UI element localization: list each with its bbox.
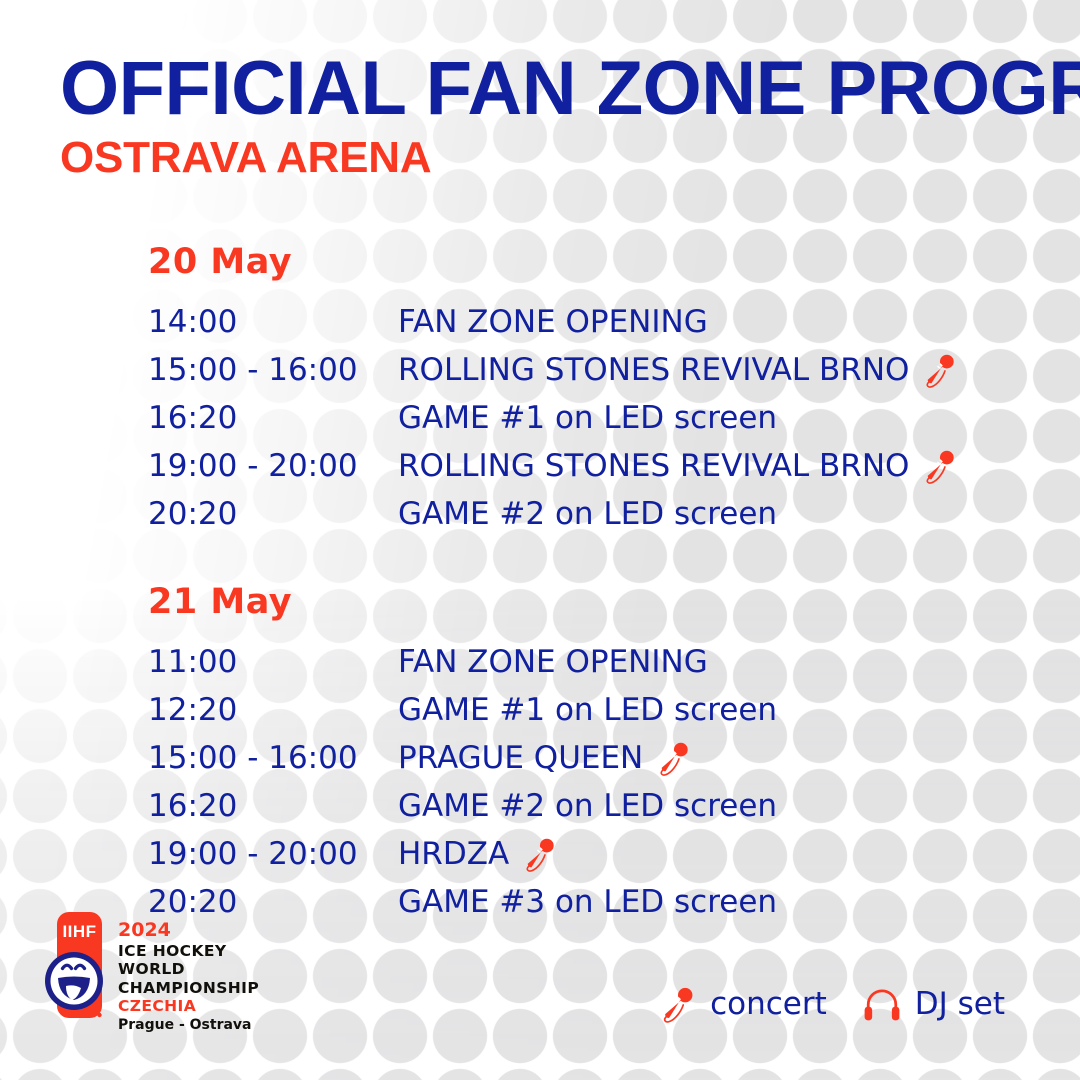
row-event: ROLLING STONES REVIVAL BRNO [398,446,959,486]
row-event: FAN ZONE OPENING [398,304,708,340]
row-event: GAME #1 on LED screen [398,692,777,728]
page-subtitle-venue: OSTRAVA ARENA [60,136,1080,180]
row-event-label: GAME #2 on LED screen [398,496,777,532]
row-event: PRAGUE QUEEN [398,738,693,778]
row-event-label: GAME #1 on LED screen [398,400,777,436]
schedule-row: 16:20 GAME #1 on LED screen [148,394,1048,442]
microphone-icon [919,350,959,390]
schedule-row: 15:00 - 16:00 ROLLING STONES REVIVAL BRN… [148,346,1048,394]
schedule-row: 15:00 - 16:00 PRAGUE QUEEN [148,734,1048,782]
row-time: 19:00 - 20:00 [148,448,398,484]
logo-year: 2024 [118,920,259,942]
poster-header: OFFICIAL FAN ZONE PROGRAM OSTRAVA ARENA [60,52,1080,180]
legend: concert DJ set [656,983,1005,1025]
day-heading: 21 May [148,582,1048,622]
row-time: 20:20 [148,496,398,532]
row-event-label: GAME #1 on LED screen [398,692,777,728]
iihf-logo-text: 2024 ICE HOCKEY WORLD CHAMPIONSHIP CZECH… [118,910,259,1034]
fan-zone-program-poster: OFFICIAL FAN ZONE PROGRAM OSTRAVA ARENA … [0,0,1080,1080]
row-event-label: PRAGUE QUEEN [398,740,643,776]
row-event-label: ROLLING STONES REVIVAL BRNO [398,352,909,388]
logo-line-championship: CHAMPIONSHIP [118,979,259,997]
headphones-icon [861,983,903,1025]
row-event: FAN ZONE OPENING [398,644,708,680]
microphone-icon [919,446,959,486]
legend-label-dj-set: DJ set [915,986,1005,1022]
microphone-icon [653,738,693,778]
row-event: ROLLING STONES REVIVAL BRNO [398,350,959,390]
svg-text:IIHF: IIHF [62,922,96,941]
row-event: HRDZA [398,834,559,874]
row-time: 19:00 - 20:00 [148,836,398,872]
row-event-label: GAME #3 on LED screen [398,884,777,920]
row-time: 11:00 [148,644,398,680]
schedule-row: 12:20 GAME #1 on LED screen [148,686,1048,734]
row-event-label: HRDZA [398,836,509,872]
row-event-label: FAN ZONE OPENING [398,304,708,340]
schedule-row: 19:00 - 20:00 ROLLING STONES REVIVAL BRN… [148,442,1048,490]
schedule-row: 11:00 FAN ZONE OPENING [148,638,1048,686]
schedule-list: 20 May 14:00 FAN ZONE OPENING 15:00 - 16… [148,242,1048,926]
schedule-row: 20:20 GAME #3 on LED screen [148,878,1048,926]
row-event: GAME #2 on LED screen [398,496,777,532]
row-event: GAME #1 on LED screen [398,400,777,436]
logo-country: CZECHIA [118,997,259,1016]
schedule-row: 16:20 GAME #2 on LED screen [148,782,1048,830]
iihf-championship-logo: IIHF 2024 ICE HOCKEY WORLD CHAMPIONSHIP … [44,910,259,1034]
row-time: 16:20 [148,400,398,436]
row-time: 12:20 [148,692,398,728]
page-title: OFFICIAL FAN ZONE PROGRAM [60,52,1080,126]
legend-item-dj-set: DJ set [861,983,1005,1025]
day-heading: 20 May [148,242,1048,282]
row-event-label: ROLLING STONES REVIVAL BRNO [398,448,909,484]
iihf-logo-mark-icon: IIHF [44,910,106,1022]
legend-item-concert: concert [656,983,827,1025]
day-block-20-may: 20 May 14:00 FAN ZONE OPENING 15:00 - 16… [148,242,1048,538]
row-time: 16:20 [148,788,398,824]
logo-line-ice-hockey: ICE HOCKEY [118,942,259,960]
schedule-row: 14:00 FAN ZONE OPENING [148,298,1048,346]
microphone-icon [519,834,559,874]
logo-cities: Prague - Ostrava [118,1017,259,1035]
microphone-icon [656,983,698,1025]
row-event: GAME #2 on LED screen [398,788,777,824]
logo-line-world: WORLD [118,960,259,978]
day-separator [148,538,1048,582]
schedule-row: 20:20 GAME #2 on LED screen [148,490,1048,538]
row-event-label: GAME #2 on LED screen [398,788,777,824]
schedule-row: 19:00 - 20:00 HRDZA [148,830,1048,878]
day-block-21-may: 21 May 11:00 FAN ZONE OPENING 12:20 GAME… [148,582,1048,926]
row-time: 15:00 - 16:00 [148,740,398,776]
row-time: 15:00 - 16:00 [148,352,398,388]
legend-label-concert: concert [710,986,827,1022]
row-event: GAME #3 on LED screen [398,884,777,920]
row-event-label: FAN ZONE OPENING [398,644,708,680]
row-time: 14:00 [148,304,398,340]
